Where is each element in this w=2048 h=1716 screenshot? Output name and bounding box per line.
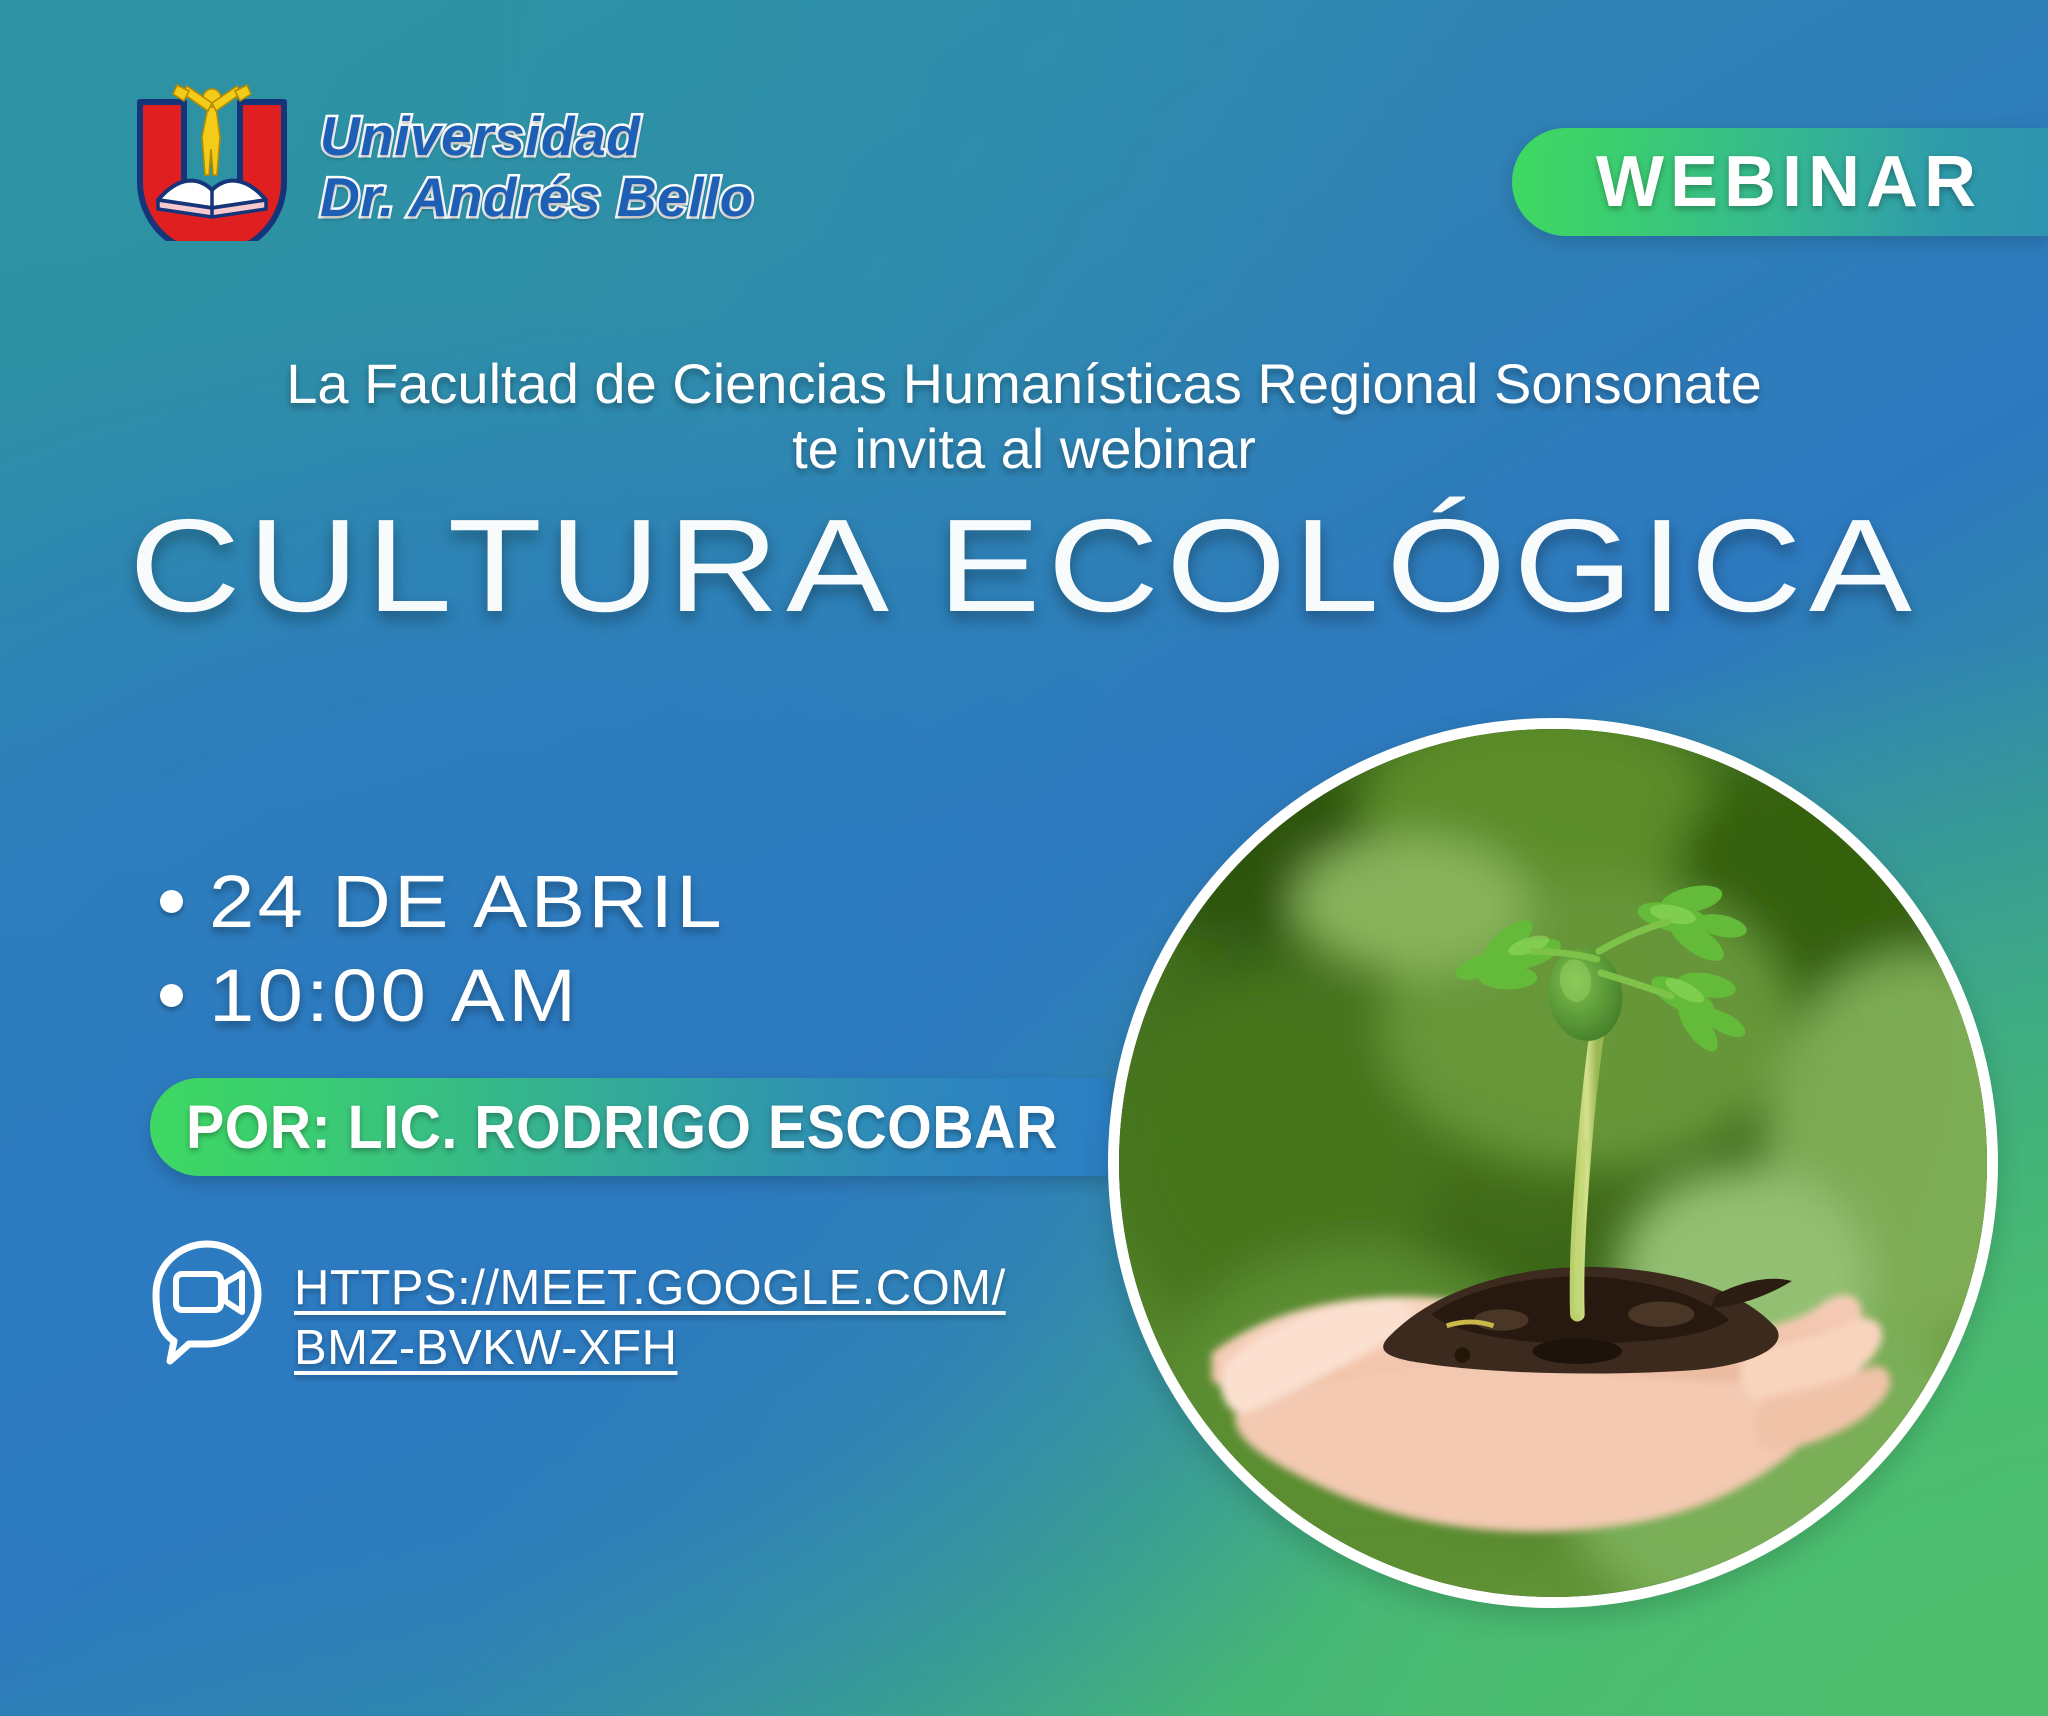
seedling-photo bbox=[1108, 718, 1998, 1608]
list-item: 10:00 AM bbox=[160, 956, 678, 1036]
event-details-list: 24 DE ABRIL 10:00 AM bbox=[160, 862, 678, 1050]
presenter-name: POR: LIC. RODRIGO ESCOBAR bbox=[186, 1092, 1058, 1162]
list-item: 24 DE ABRIL bbox=[160, 862, 678, 942]
event-time: 10:00 AM bbox=[209, 956, 579, 1036]
bullet-dot-icon bbox=[160, 890, 183, 913]
logo-text-line1: Universidad bbox=[320, 109, 754, 164]
bullet-dot-icon bbox=[160, 984, 183, 1007]
page-title: CULTURA ECOLÓGICA bbox=[0, 500, 2048, 632]
invitation-line-1: La Facultad de Ciencias Humanísticas Reg… bbox=[286, 352, 1762, 415]
webinar-badge-label: WEBINAR bbox=[1596, 146, 1982, 218]
university-crest-icon bbox=[122, 66, 302, 241]
invitation-text: La Facultad de Ciencias Humanísticas Reg… bbox=[0, 352, 2048, 482]
university-logo: Universidad Dr. Andrés Bello bbox=[122, 66, 754, 241]
webinar-badge: WEBINAR bbox=[1512, 128, 2048, 236]
presenter-banner: POR: LIC. RODRIGO ESCOBAR bbox=[150, 1078, 1110, 1176]
video-chat-bubble-icon bbox=[148, 1237, 266, 1365]
logo-text-line2: Dr. Andrés Bello bbox=[320, 170, 754, 225]
meeting-link-row: HTTPS://MEET.GOOGLE.COM/BMZ-BVKW-XFH bbox=[148, 1237, 1034, 1379]
invitation-line-2: te invita al webinar bbox=[0, 417, 2048, 482]
event-date: 24 DE ABRIL bbox=[209, 862, 725, 942]
webinar-poster: Universidad Dr. Andrés Bello WEBINAR La … bbox=[0, 0, 2048, 1716]
hands-holding-seedling-illustration bbox=[1119, 729, 1987, 1597]
meeting-link[interactable]: HTTPS://MEET.GOOGLE.COM/BMZ-BVKW-XFH bbox=[294, 1237, 1034, 1379]
